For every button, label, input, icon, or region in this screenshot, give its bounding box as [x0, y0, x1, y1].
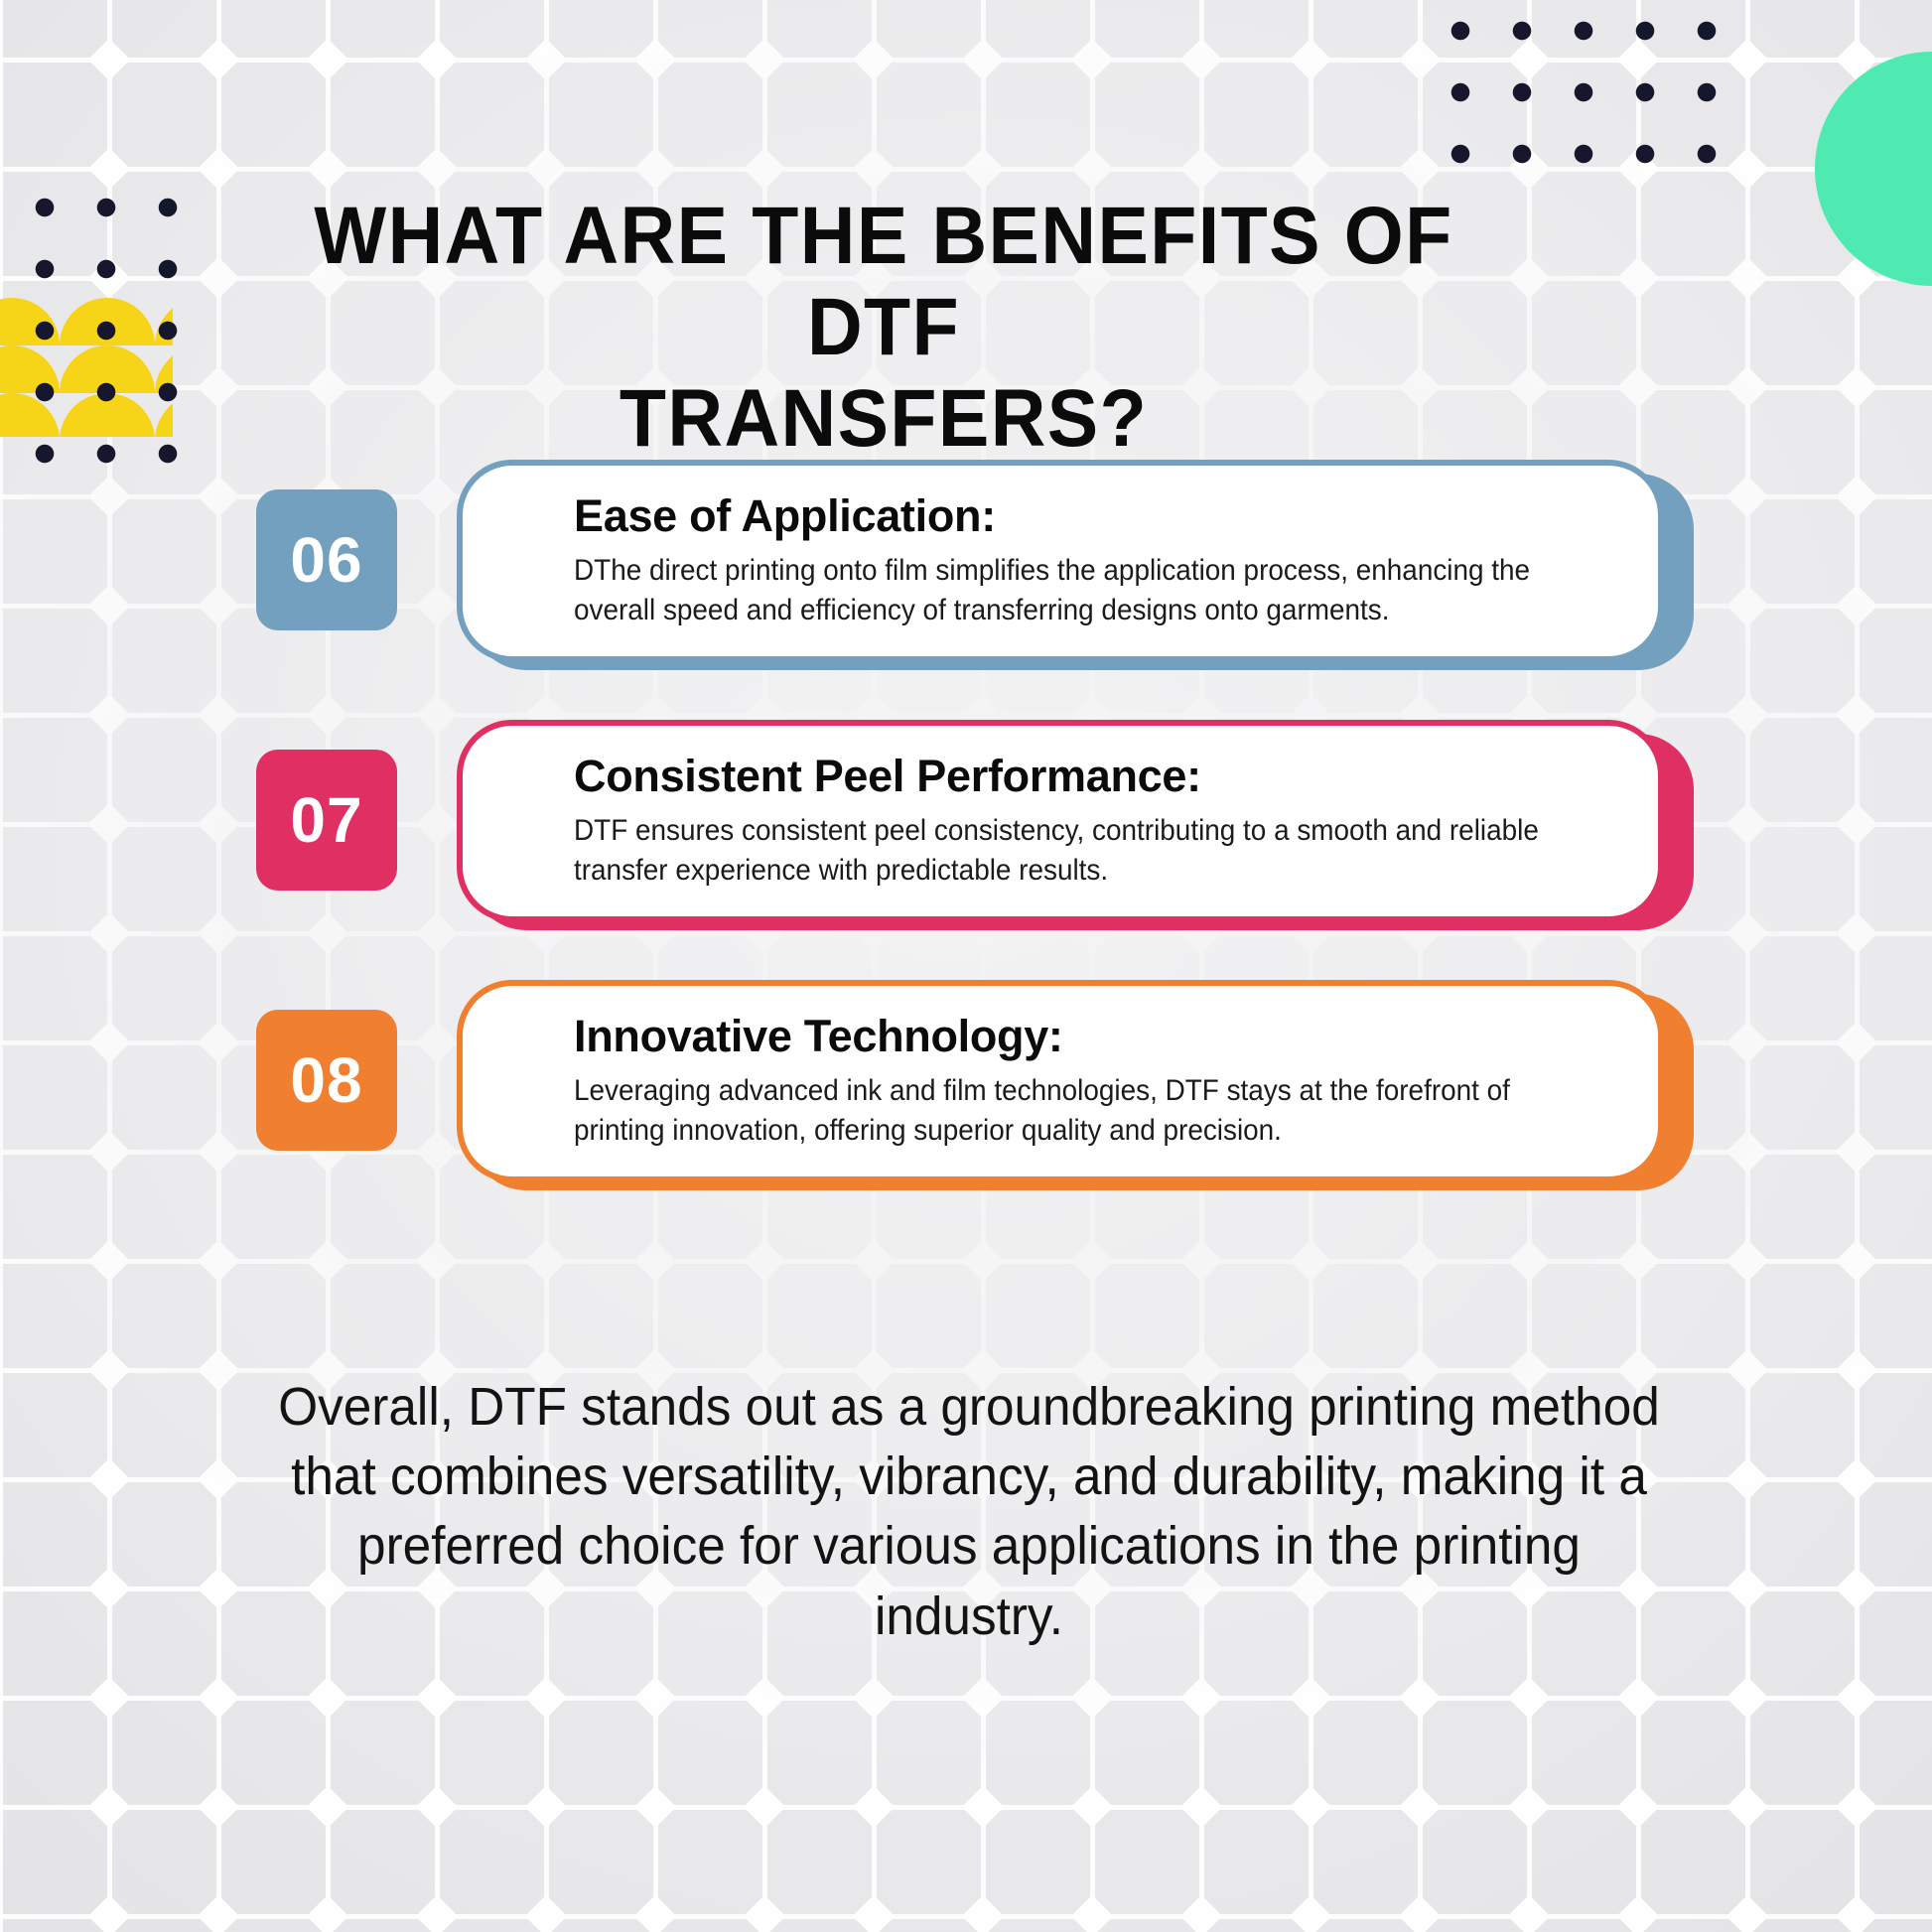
card-number-badge: 06: [256, 489, 397, 630]
page-title-line-2: TRANSFERS?: [230, 373, 1537, 465]
card-number-label: 06: [290, 523, 362, 597]
card-body-text: DTF ensures consistent peel consistency,…: [574, 811, 1606, 891]
benefit-card[interactable]: Innovative Technology: Leveraging advanc…: [457, 980, 1664, 1182]
page-title: WHAT ARE THE BENEFITS OF DTF TRANSFERS?: [230, 191, 1537, 464]
benefit-card-item: Innovative Technology: Leveraging advanc…: [0, 972, 1932, 1232]
card-number-badge: 08: [256, 1010, 397, 1151]
benefit-card-item: Ease of Application: DThe direct printin…: [0, 452, 1932, 712]
benefit-card-list: Ease of Application: DThe direct printin…: [0, 452, 1932, 1232]
card-number-label: 08: [290, 1043, 362, 1117]
card-body-text: DThe direct printing onto film simplifie…: [574, 551, 1606, 630]
benefit-card[interactable]: Ease of Application: DThe direct printin…: [457, 460, 1664, 662]
benefit-card-item: Consistent Peel Performance: DTF ensures…: [0, 712, 1932, 972]
infographic-canvas: WHAT ARE THE BENEFITS OF DTF TRANSFERS? …: [0, 0, 1932, 1932]
summary-paragraph: Overall, DTF stands out as a groundbreak…: [271, 1372, 1667, 1651]
dot-grid-icon-top-right: [1430, 0, 1757, 199]
card-heading: Consistent Peel Performance:: [574, 752, 1606, 801]
card-heading: Ease of Application:: [574, 491, 1606, 541]
card-heading: Innovative Technology:: [574, 1012, 1606, 1061]
benefit-card[interactable]: Consistent Peel Performance: DTF ensures…: [457, 720, 1664, 922]
page-title-line-1: WHAT ARE THE BENEFITS OF DTF: [230, 191, 1537, 373]
card-body-text: Leveraging advanced ink and film technol…: [574, 1071, 1606, 1151]
card-number-label: 07: [290, 783, 362, 857]
card-number-badge: 07: [256, 750, 397, 891]
